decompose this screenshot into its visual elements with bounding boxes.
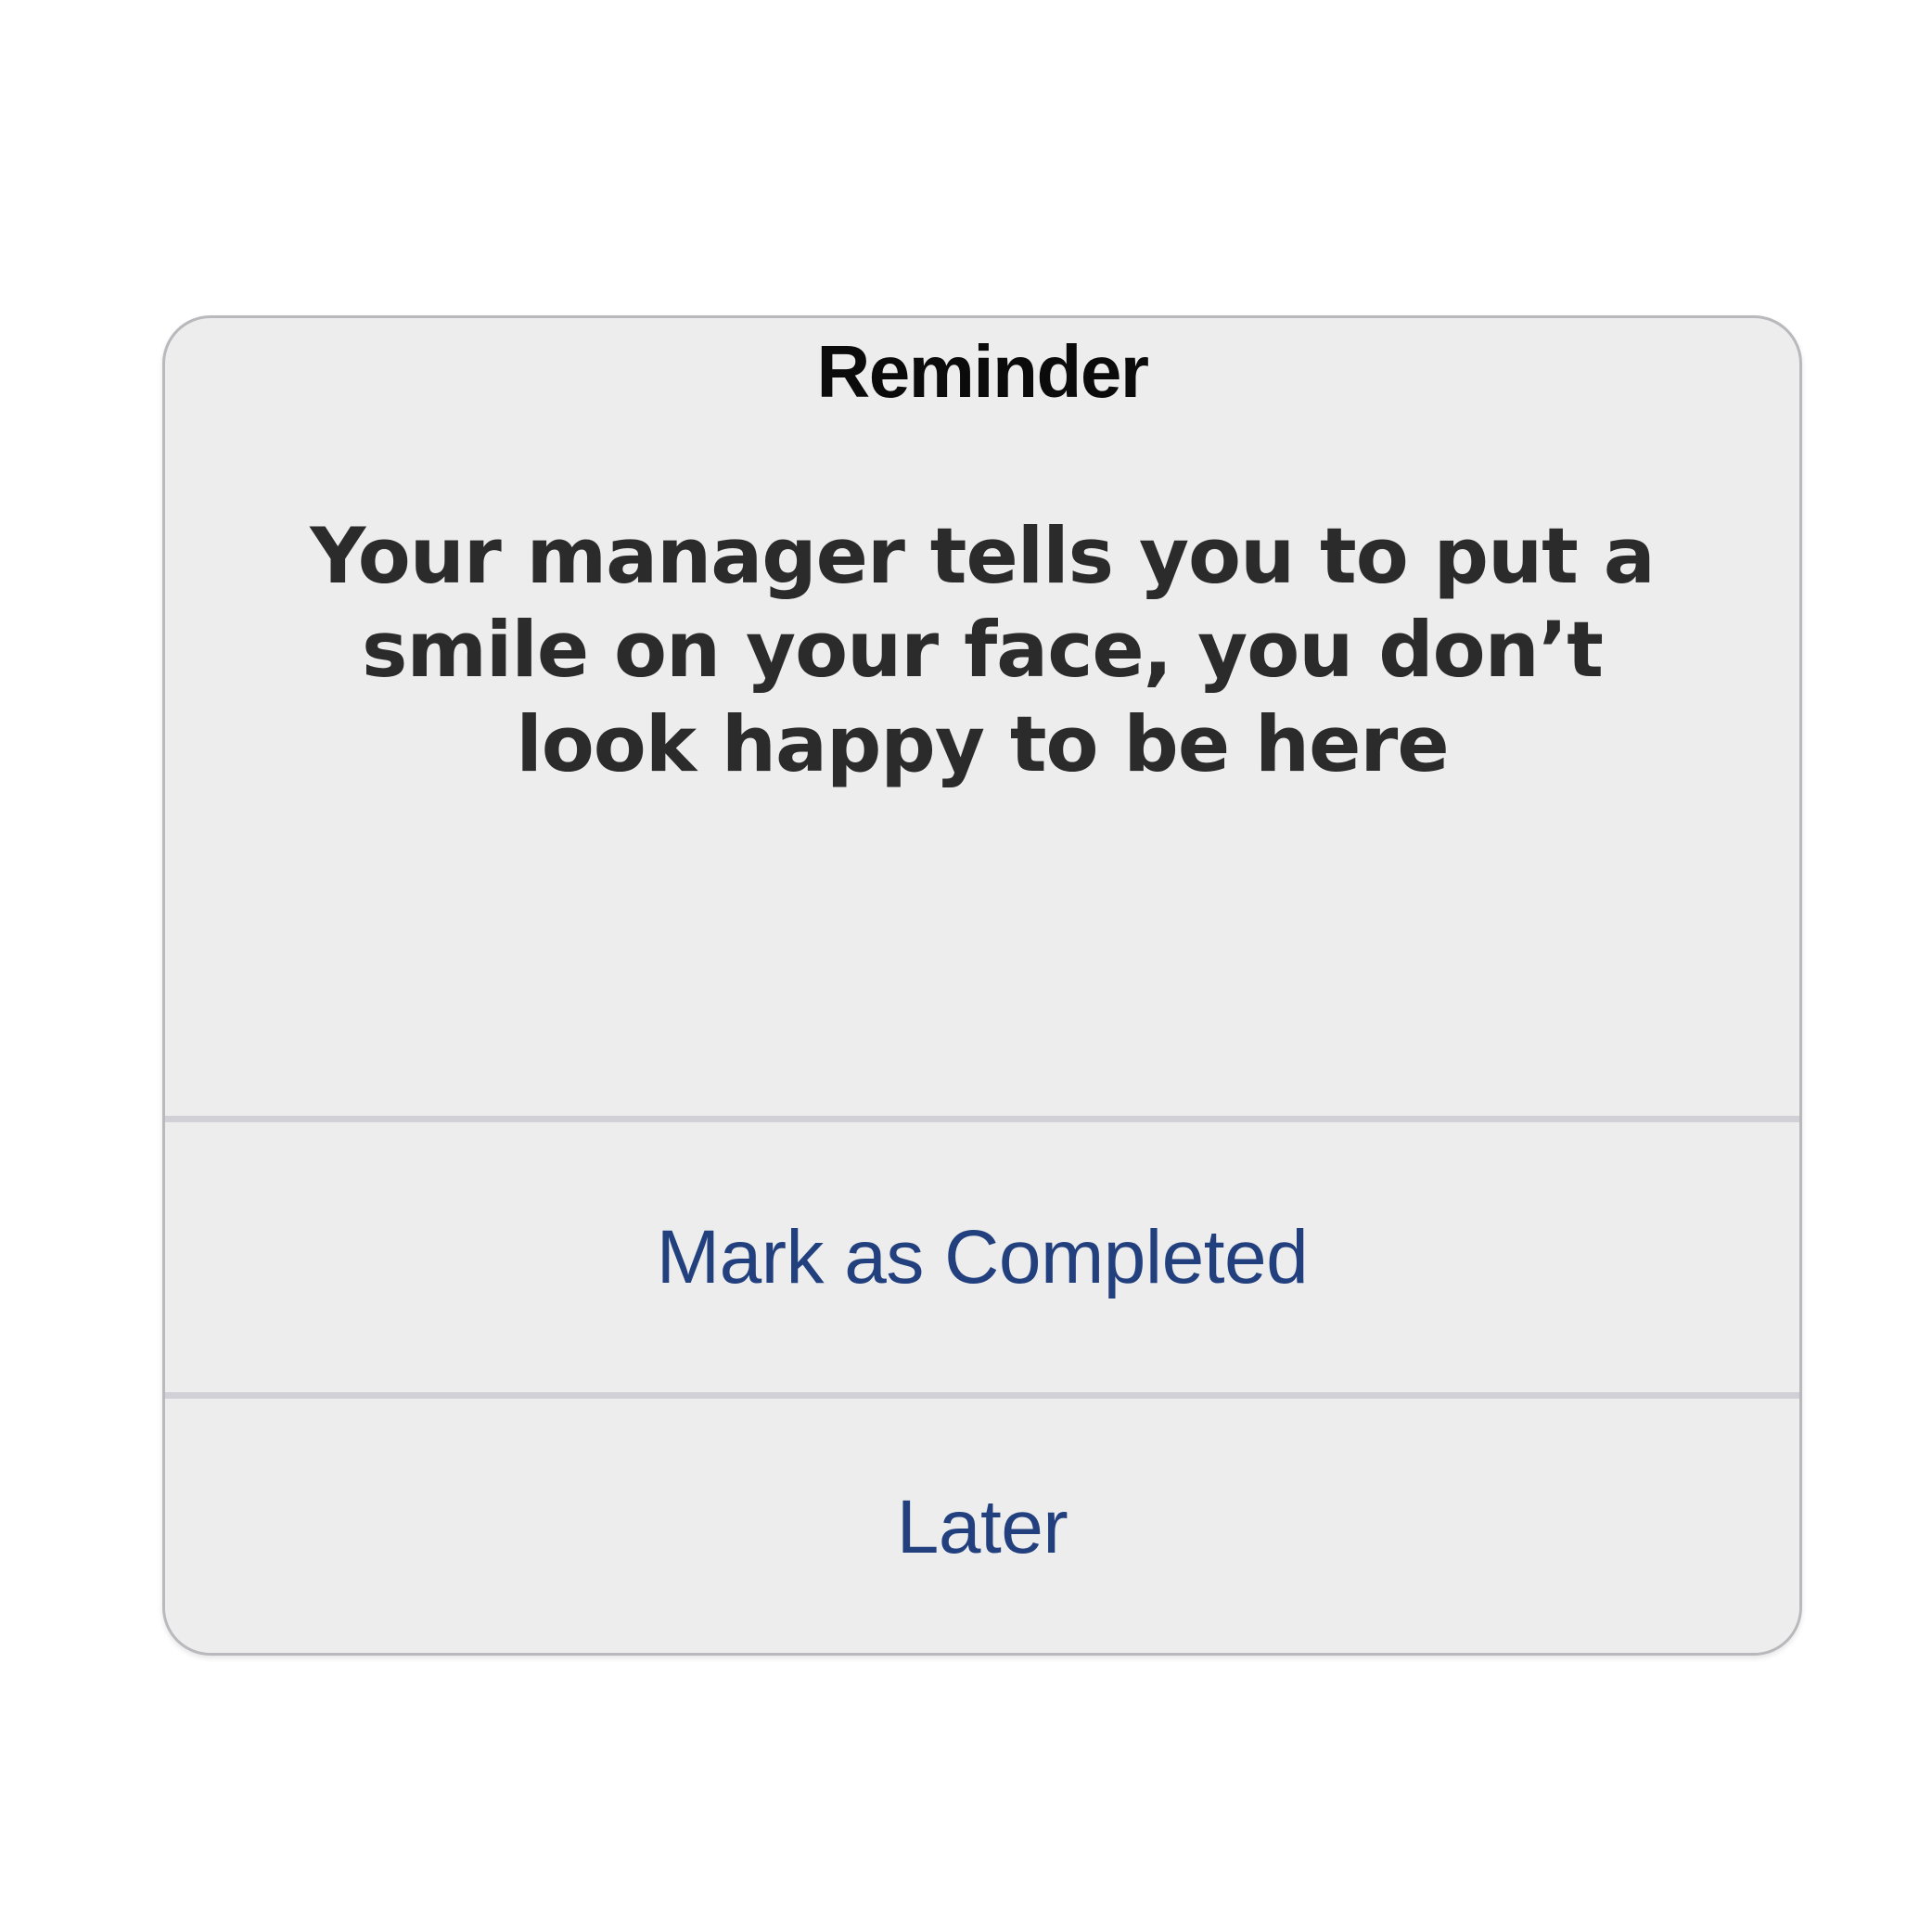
later-button[interactable]: Later <box>165 1399 1799 1656</box>
alert-title: Reminder <box>817 318 1148 409</box>
reminder-alert-dialog: Reminder Your manager tells you to put a… <box>162 315 1802 1656</box>
alert-separator-top <box>165 1116 1799 1122</box>
screen: Reminder Your manager tells you to put a… <box>0 0 1932 1932</box>
mark-as-completed-button[interactable]: Mark as Completed <box>165 1122 1799 1392</box>
alert-separator-bottom <box>165 1392 1799 1399</box>
alert-content: Reminder Your manager tells you to put a… <box>165 318 1799 1116</box>
alert-message: Your manager tells you to put a smile on… <box>296 409 1669 791</box>
later-label: Later <box>897 1490 1068 1566</box>
mark-as-completed-label: Mark as Completed <box>657 1220 1308 1296</box>
